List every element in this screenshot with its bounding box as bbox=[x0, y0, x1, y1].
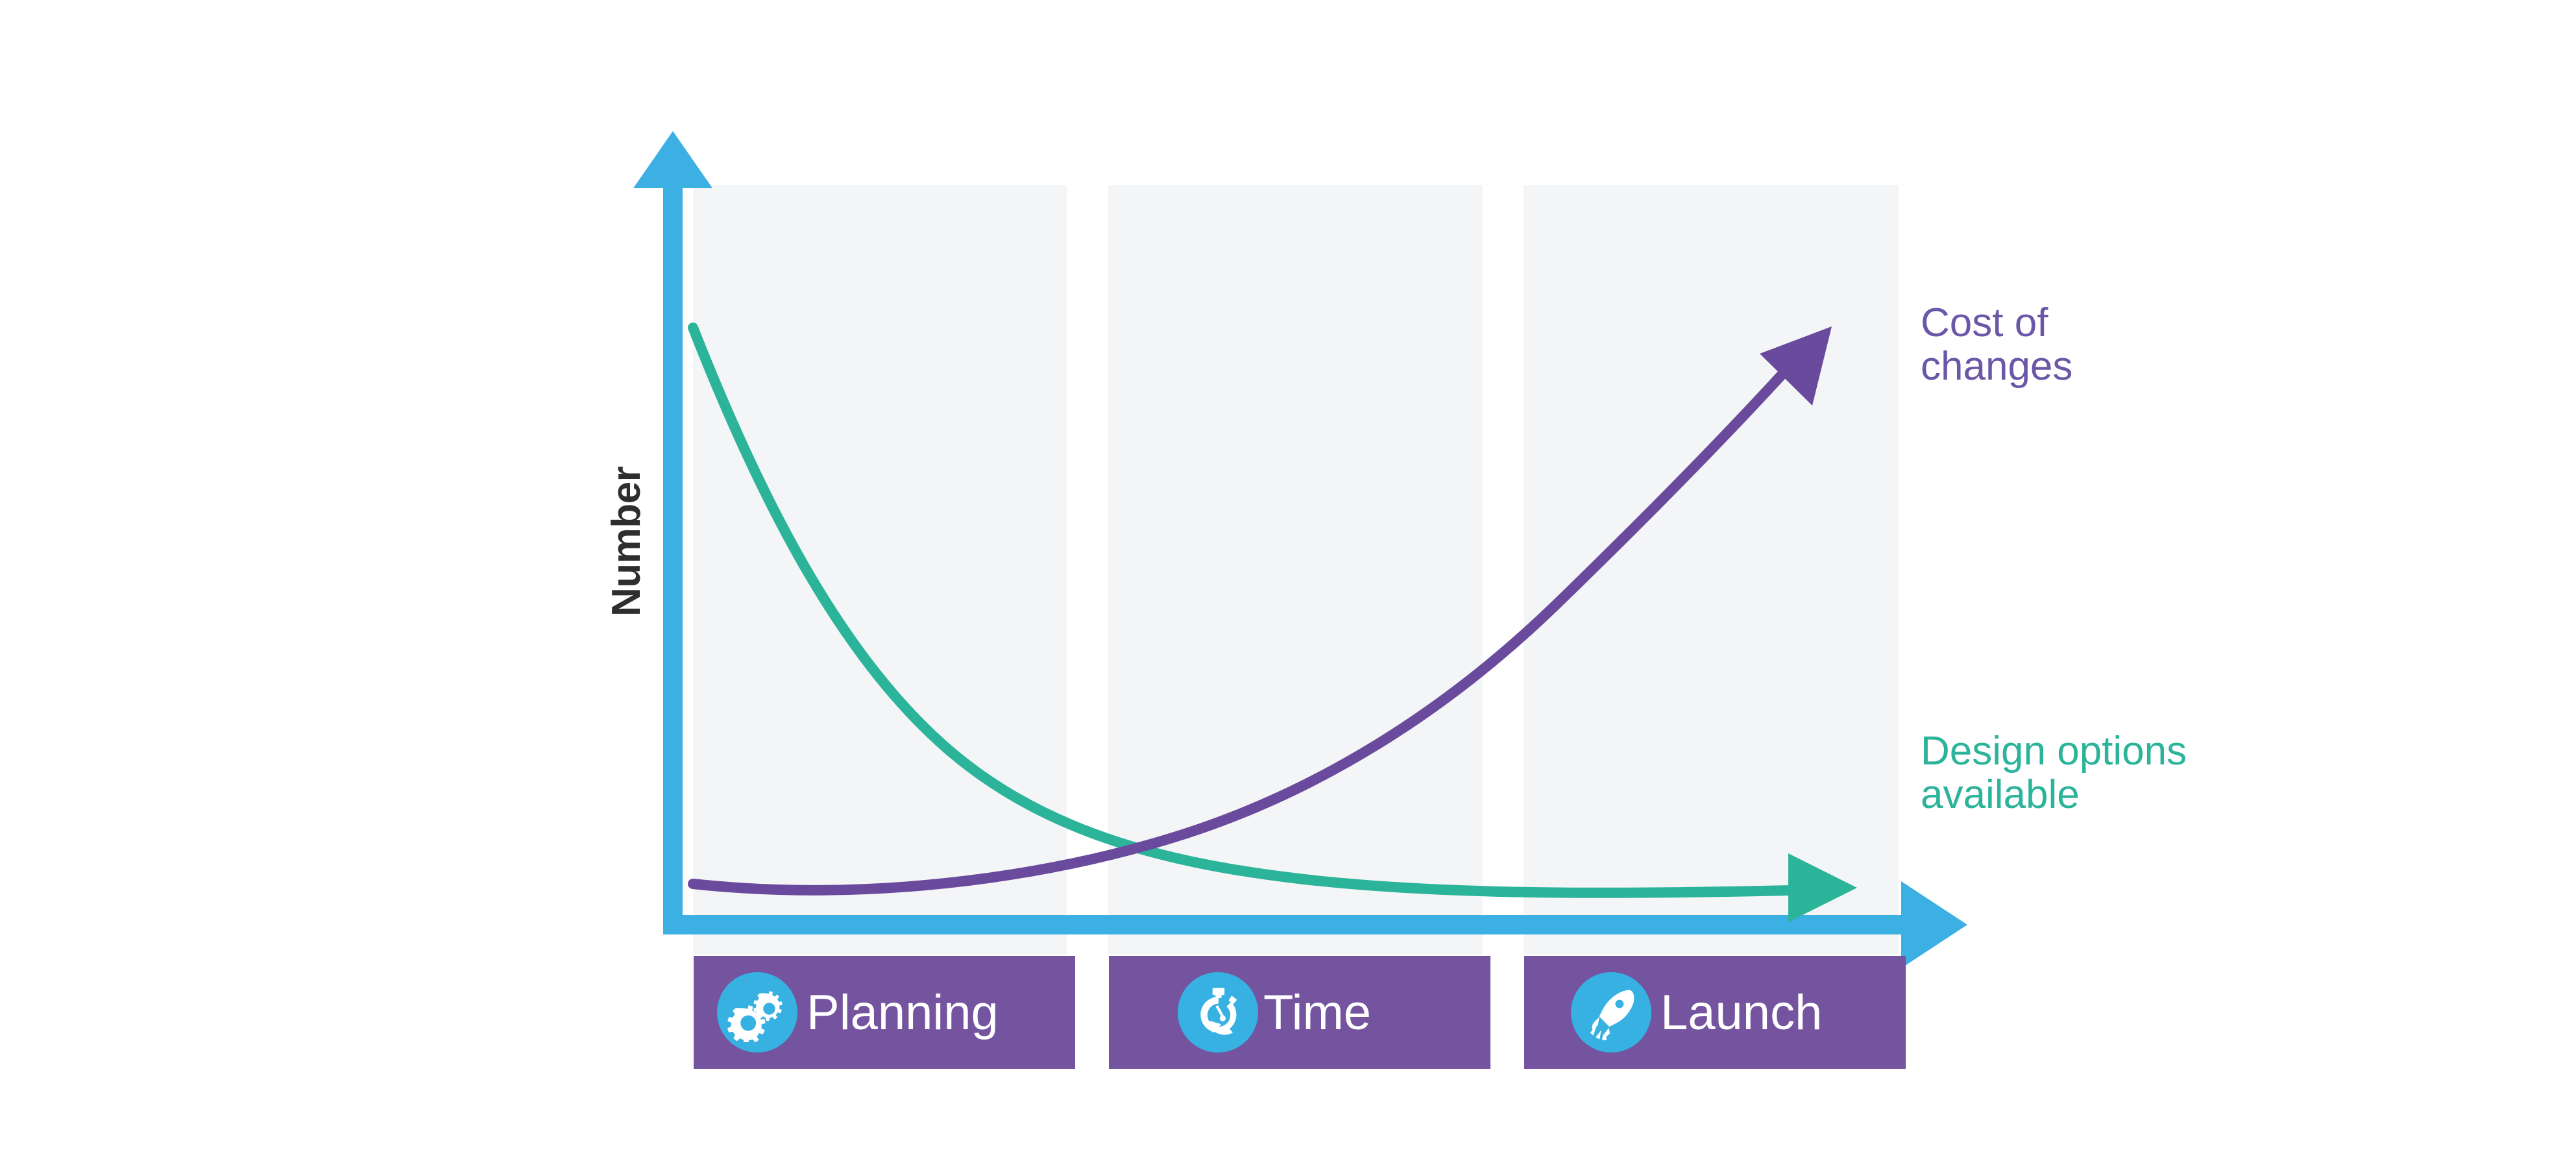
gears-icon bbox=[717, 972, 797, 1053]
rocket-icon bbox=[1571, 972, 1651, 1053]
y-axis-title: Number bbox=[603, 467, 650, 616]
series-label-cost-of-changes: Cost of changes bbox=[1921, 302, 2072, 389]
stopwatch-icon bbox=[1178, 972, 1258, 1053]
phase-bands bbox=[693, 185, 1899, 955]
phase-label-planning: Planning bbox=[807, 984, 999, 1041]
phase-tab-launch[interactable]: Launch bbox=[1524, 956, 1906, 1069]
phase-label-time: Time bbox=[1263, 984, 1371, 1041]
diagram-canvas: Number Cost of changes Design options av… bbox=[0, 0, 2576, 1159]
phase-tab-time[interactable]: Time bbox=[1109, 956, 1490, 1069]
phase-tab-planning[interactable]: Planning bbox=[694, 956, 1075, 1069]
phase-band-planning bbox=[693, 185, 1067, 955]
phase-label-launch: Launch bbox=[1660, 984, 1822, 1041]
phase-band-launch bbox=[1524, 185, 1899, 955]
series-label-design-options: Design options available bbox=[1921, 730, 2187, 817]
